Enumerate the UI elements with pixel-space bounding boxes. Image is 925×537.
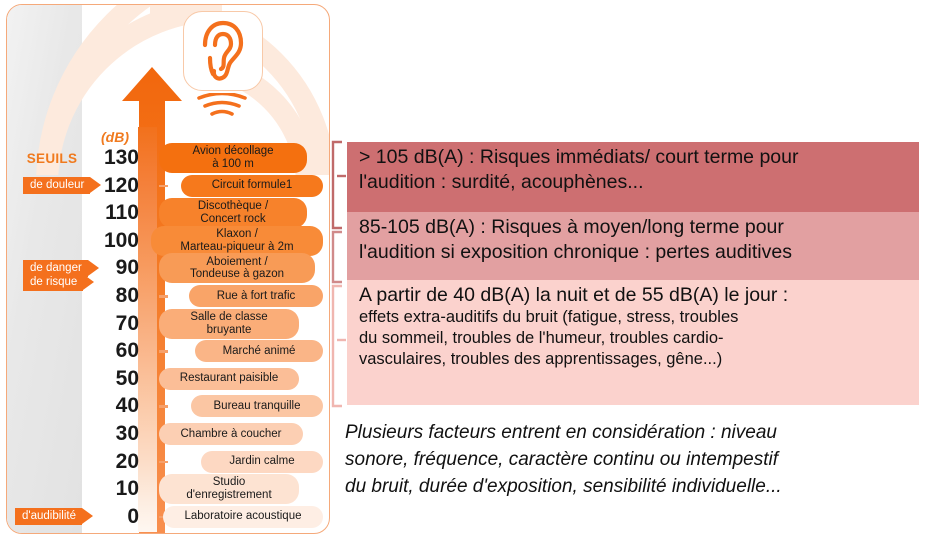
sound-source-pill: Marché animé bbox=[195, 340, 323, 362]
scale-tick bbox=[159, 350, 168, 353]
sound-source-pill: Jardin calme bbox=[201, 451, 323, 473]
footnote-line: Plusieurs facteurs entrent en considérat… bbox=[345, 420, 925, 447]
sound-source-text: Restaurant paisible bbox=[180, 372, 278, 385]
sound-source-label: Klaxon / bbox=[216, 228, 258, 240]
scale-number-40: 40 bbox=[83, 395, 139, 416]
sound-source-text: Discothèque /Concert rock bbox=[198, 200, 268, 226]
sound-source-pill: Restaurant paisible bbox=[159, 368, 299, 390]
sound-source-pill: Studiod'enregistrement bbox=[159, 474, 299, 504]
sound-source-label: Restaurant paisible bbox=[180, 372, 278, 384]
scale-number-50: 50 bbox=[83, 368, 139, 389]
sound-source-pill: Circuit formule1 bbox=[181, 175, 323, 197]
panel-line: du sommeil, troubles de l'humeur, troubl… bbox=[359, 328, 909, 349]
sound-source-pill: Laboratoire acoustique bbox=[163, 506, 323, 528]
infographic-root: (dB) SEUILS 1301201101009080706050403020… bbox=[0, 0, 925, 537]
ear-icon bbox=[193, 18, 253, 84]
sound-source-pill: Salle de classebruyante bbox=[159, 309, 299, 339]
sound-source-pill: Bureau tranquille bbox=[191, 395, 323, 417]
sound-source-text: Studiod'enregistrement bbox=[186, 476, 271, 502]
scale-number-60: 60 bbox=[83, 340, 139, 361]
scale-number-100: 100 bbox=[83, 230, 139, 251]
sound-source-text: Rue à fort trafic bbox=[217, 290, 296, 303]
panel-line: 85-105 dB(A) : Risques à moyen/long term… bbox=[359, 215, 909, 240]
sound-source-text: Circuit formule1 bbox=[212, 179, 293, 192]
sound-source-pill: Klaxon /Marteau-piqueur à 2m bbox=[151, 226, 323, 256]
sound-source-label: Chambre à coucher bbox=[181, 428, 282, 440]
panel-line: vasculaires, troubles des apprentissages… bbox=[359, 349, 909, 370]
scale-number-130: 130 bbox=[83, 147, 139, 168]
sound-waves-icon bbox=[193, 93, 251, 119]
sound-source-label: Laboratoire acoustique bbox=[185, 510, 302, 522]
sound-source-label: Discothèque / bbox=[198, 200, 268, 212]
sound-source-label: Marteau-piqueur à 2m bbox=[180, 241, 293, 253]
loudness-gradient-bar bbox=[138, 127, 157, 532]
sound-source-label: Aboiement / bbox=[206, 256, 267, 268]
sound-source-label: Tondeuse à gazon bbox=[190, 268, 284, 280]
panel-midlong-risk: 85-105 dB(A) : Risques à moyen/long term… bbox=[347, 212, 919, 280]
sound-source-label: Marché animé bbox=[223, 345, 296, 357]
scale-tick bbox=[159, 295, 168, 298]
scale-tick bbox=[159, 461, 168, 464]
noise-scale-card: (dB) SEUILS 1301201101009080706050403020… bbox=[6, 4, 330, 534]
scale-tick bbox=[159, 185, 168, 188]
sound-source-text: Jardin calme bbox=[229, 455, 294, 468]
sound-source-label: Circuit formule1 bbox=[212, 179, 293, 191]
sound-source-pill: Discothèque /Concert rock bbox=[159, 198, 307, 228]
scale-number-30: 30 bbox=[83, 423, 139, 444]
sound-source-label: Bureau tranquille bbox=[214, 400, 301, 412]
footnote-line: du bruit, durée d'exposition, sensibilit… bbox=[345, 474, 925, 501]
sound-source-text: Salle de classebruyante bbox=[190, 311, 267, 337]
panel-line: effets extra-auditifs du bruit (fatigue,… bbox=[359, 307, 909, 328]
sound-source-pill: Aboiement /Tondeuse à gazon bbox=[159, 253, 315, 283]
sound-source-label: à 100 m bbox=[212, 158, 254, 170]
footnote-line: sonore, fréquence, caractère continu ou … bbox=[345, 447, 925, 474]
threshold-flag-120: de douleur bbox=[23, 177, 90, 194]
scale-number-10: 10 bbox=[83, 478, 139, 499]
ear-icon-frame bbox=[183, 11, 263, 91]
db-unit-label: (dB) bbox=[91, 129, 139, 145]
sound-source-label: Concert rock bbox=[200, 213, 265, 225]
scale-tick bbox=[159, 405, 168, 408]
sound-source-label: Rue à fort trafic bbox=[217, 290, 296, 302]
scale-number-110: 110 bbox=[83, 202, 139, 223]
panel-line: > 105 dB(A) : Risques immédiats/ court t… bbox=[359, 145, 909, 170]
sound-source-pill: Chambre à coucher bbox=[159, 423, 303, 445]
panel-immediate-risk: > 105 dB(A) : Risques immédiats/ court t… bbox=[347, 142, 919, 212]
sound-source-label: Salle de classe bbox=[190, 311, 267, 323]
scale-number-20: 20 bbox=[83, 451, 139, 472]
sound-source-text: Laboratoire acoustique bbox=[185, 510, 302, 523]
footnote: Plusieurs facteurs entrent en considérat… bbox=[345, 420, 925, 501]
panel-line: A partir de 40 dB(A) la nuit et de 55 dB… bbox=[359, 283, 909, 307]
thresholds-title: SEUILS bbox=[21, 151, 83, 166]
sound-source-label: bruyante bbox=[207, 324, 252, 336]
sound-source-text: Klaxon /Marteau-piqueur à 2m bbox=[180, 228, 293, 254]
sound-source-pill: Avion décollageà 100 m bbox=[159, 143, 307, 173]
threshold-flag-0: d'audibilité bbox=[15, 508, 82, 525]
sound-source-label: Studio bbox=[213, 476, 246, 488]
sound-source-text: Aboiement /Tondeuse à gazon bbox=[190, 256, 284, 282]
sound-source-label: Avion décollage bbox=[193, 145, 274, 157]
sound-source-text: Chambre à coucher bbox=[181, 428, 282, 441]
sound-source-label: Jardin calme bbox=[229, 455, 294, 467]
panel-line: l'audition : surdité, acouphènes... bbox=[359, 170, 909, 195]
scale-number-70: 70 bbox=[83, 313, 139, 334]
sound-source-text: Avion décollageà 100 m bbox=[193, 145, 274, 171]
panel-extra-auditory: A partir de 40 dB(A) la nuit et de 55 dB… bbox=[347, 280, 919, 405]
sound-source-pill: Rue à fort trafic bbox=[189, 285, 323, 307]
threshold-flag-85: de risque bbox=[23, 274, 83, 291]
sound-source-label: d'enregistrement bbox=[186, 489, 271, 501]
panel-line: l'audition si exposition chronique : per… bbox=[359, 240, 909, 265]
sound-source-text: Bureau tranquille bbox=[214, 400, 301, 413]
sound-source-text: Marché animé bbox=[223, 345, 296, 358]
